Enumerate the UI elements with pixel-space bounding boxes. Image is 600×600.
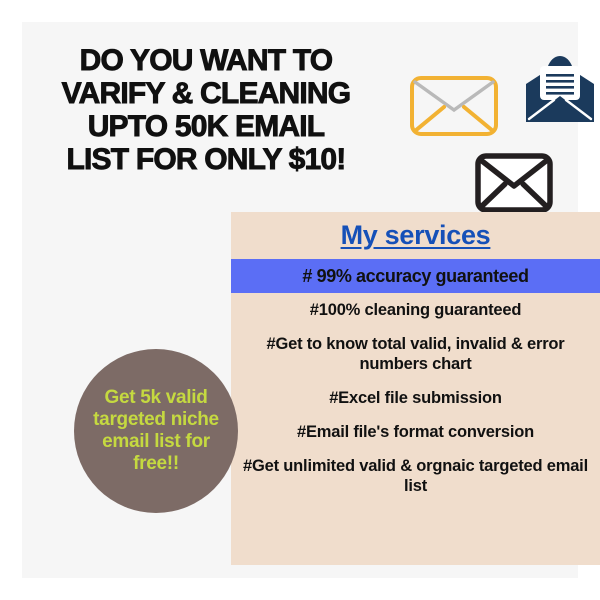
headline-line-2: VARIFY & CLEANING [30, 77, 382, 110]
list-item[interactable]: #Get unlimited valid & orgnaic targeted … [231, 449, 600, 503]
open-envelope-letter-icon [524, 52, 596, 128]
poster-canvas: DO YOU WANT TO VARIFY & CLEANING UPTO 50… [22, 22, 578, 578]
headline-line-1: DO YOU WANT TO [30, 44, 382, 77]
headline-line-3: UPTO 50K EMAIL [30, 110, 382, 143]
list-item[interactable]: #Get to know total valid, invalid & erro… [231, 327, 600, 381]
services-panel: My services # 99% accuracy guaranteed #1… [231, 212, 600, 565]
services-list: # 99% accuracy guaranteed #100% cleaning… [231, 259, 600, 503]
list-item[interactable]: #100% cleaning guaranteed [231, 293, 600, 327]
list-item[interactable]: #Email file's format conversion [231, 415, 600, 449]
offer-badge-text: Get 5k valid targeted niche email list f… [74, 387, 238, 475]
envelope-icon [474, 152, 554, 214]
list-item[interactable]: #Excel file submission [231, 381, 600, 415]
offer-badge: Get 5k valid targeted niche email list f… [74, 349, 238, 513]
services-title: My services [231, 220, 600, 251]
headline-line-4: LIST FOR ONLY $10! [30, 143, 382, 176]
page-title: DO YOU WANT TO VARIFY & CLEANING UPTO 50… [30, 44, 382, 176]
envelope-icon [408, 74, 500, 138]
list-item[interactable]: # 99% accuracy guaranteed [231, 259, 600, 293]
